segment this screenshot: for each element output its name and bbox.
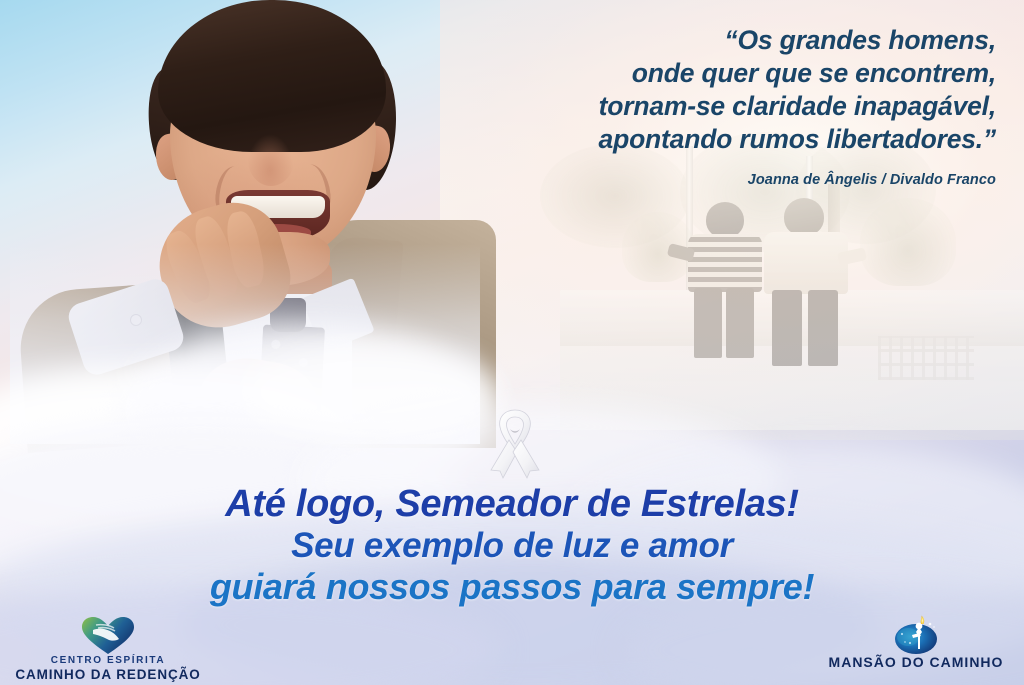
headline-line-1: Até logo, Semeador de Estrelas! [0,484,1024,525]
globe-torch-icon [814,618,1018,654]
heart-hands-icon [8,618,208,654]
headline-line-2: Seu exemplo de luz e amor [0,525,1024,566]
mourning-ribbon-icon [483,404,547,480]
quote-attribution: Joanna de Ângelis / Divaldo Franco [450,172,996,188]
background-scene-photo [560,150,1024,440]
quote-line-4: apontando rumos libertadores.” [450,123,996,156]
logo-left-line-1: CENTRO ESPÍRITA [8,654,208,667]
portrait-divaldo-franco [10,0,480,444]
memorial-poster: “Os grandes homens, onde quer que se enc… [0,0,1024,685]
headline: Até logo, Semeador de Estrelas! Seu exem… [0,484,1024,607]
quote-line-1: “Os grandes homens, [450,24,996,57]
logo-centro-espirita: CENTRO ESPÍRITA CAMINHO DA REDENÇÃO [8,618,208,683]
quote-line-3: tornam-se claridade inapagável, [450,90,996,123]
quote-line-2: onde quer que se encontrem, [450,57,996,90]
logo-left-line-2: CAMINHO DA REDENÇÃO [8,667,208,683]
logo-right-line-1: MANSÃO DO CAMINHO [814,654,1018,671]
quote-text: “Os grandes homens, onde quer que se enc… [450,24,996,156]
headline-line-3: guiará nossos passos para sempre! [0,566,1024,607]
logo-mansao-do-caminho: MANSÃO DO CAMINHO [814,618,1018,671]
